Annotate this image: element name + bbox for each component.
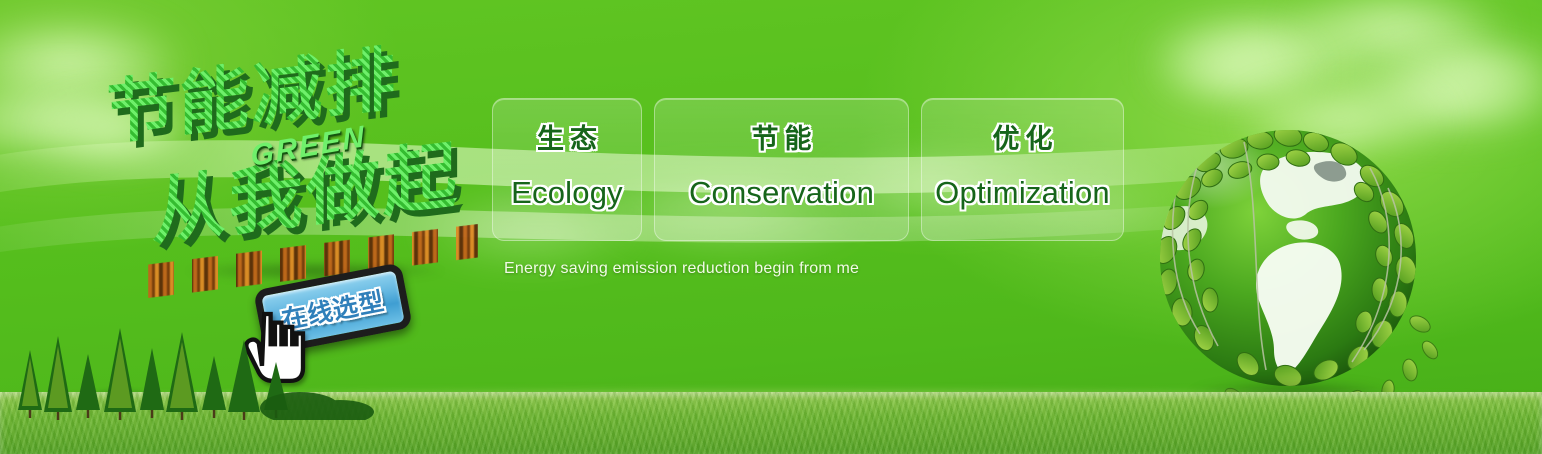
feature-card-cn-label: 优化 [987, 117, 1059, 156]
feature-card-list: 生态 Ecology 节能 Conservation 优化 Optimizati… [492, 98, 1124, 241]
feature-card-en-label: Conservation [689, 175, 874, 211]
banner-tagline: Energy saving emission reduction begin f… [504, 260, 859, 278]
feature-card-conservation[interactable]: 节能 Conservation [654, 98, 909, 241]
feature-card-ecology[interactable]: 生态 Ecology [492, 98, 642, 241]
hero-logo: 节能减排 节能减排 从我做起 从我做起 GREEN [100, 38, 480, 278]
feature-card-cn-label: 节能 [746, 117, 818, 156]
feature-card-en-label: Ecology [511, 175, 623, 211]
feature-card-optimization[interactable]: 优化 Optimization [921, 98, 1124, 241]
conifer-trees-icon [0, 310, 420, 420]
feature-card-cn-label: 生态 [531, 117, 603, 156]
feature-card-en-label: Optimization [935, 175, 1110, 211]
cloud-icon [1160, 40, 1310, 100]
hero-banner: 节能减排 节能减排 从我做起 从我做起 GREEN 在线选型 生态 Ecolog… [0, 0, 1542, 454]
